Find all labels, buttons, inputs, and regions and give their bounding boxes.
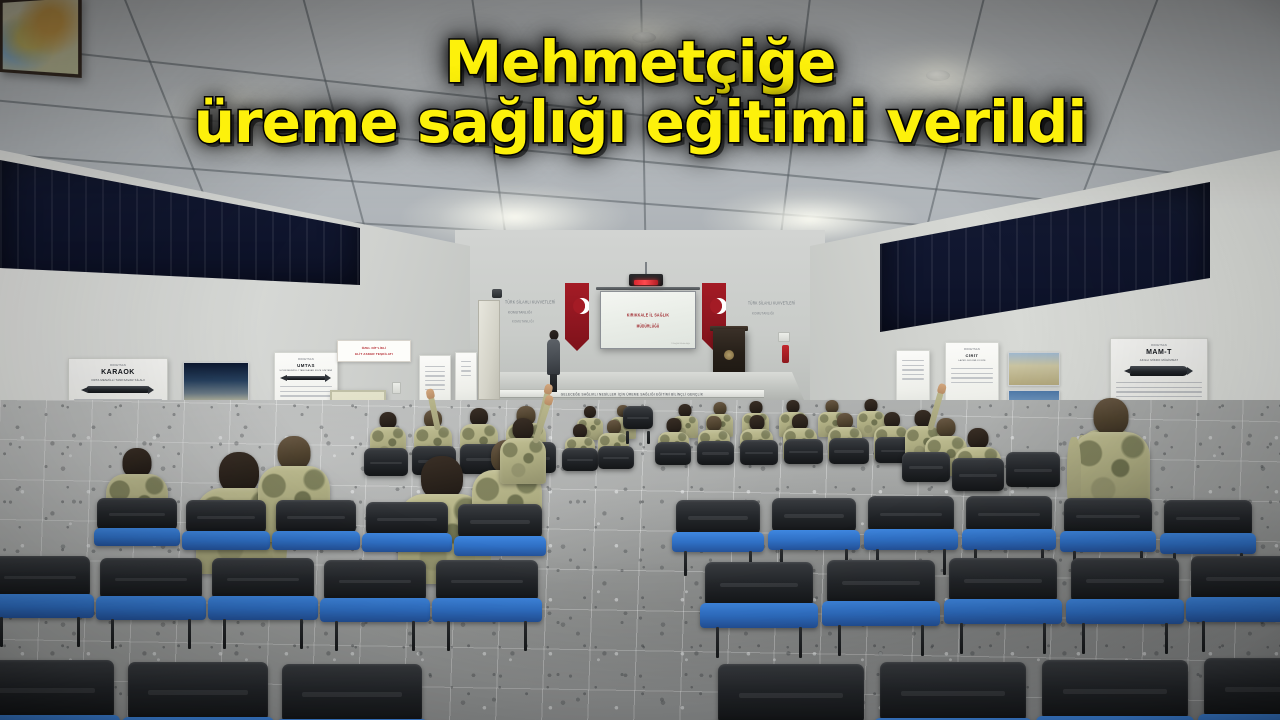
chair-backrest: [598, 446, 635, 469]
chair-backrest: [697, 441, 735, 465]
chair-block-b-5[interactable]: [1060, 498, 1156, 552]
chair-front-row-2[interactable]: [96, 558, 206, 620]
red-sign-line2: ELİT ASKER TEŞKİLATI: [355, 352, 393, 356]
red-sign-line1: ÖZEL NİT'LİKLİ: [362, 346, 387, 350]
chair-seat: [822, 601, 940, 626]
chair-right-3[interactable]: [1004, 452, 1062, 492]
chair-bottom-7[interactable]: [1198, 658, 1280, 720]
chair-legs: [443, 621, 531, 651]
chair-backrest: [1006, 452, 1059, 487]
chair-legs: [834, 625, 928, 657]
soldier-head: [707, 416, 722, 431]
chair-backrest: [282, 664, 422, 720]
soldier-head: [666, 418, 681, 433]
chair-r5-5[interactable]: [827, 438, 871, 467]
poster-brand: ROKETSAN: [1111, 344, 1207, 347]
chair-backrest: [100, 558, 201, 599]
chair-left-mid-2[interactable]: [596, 446, 636, 472]
chair-backrest: [458, 504, 543, 538]
chair-backrest: [1071, 558, 1180, 602]
soldier-front-left-raised: [500, 418, 546, 484]
chair-backrest: [827, 560, 936, 604]
chair-backrest: [366, 502, 449, 535]
wall-speaker: [492, 289, 502, 298]
chair-block-b-4[interactable]: [962, 496, 1056, 550]
soldier-front-right-big: [1072, 398, 1150, 514]
chair-seat: [944, 599, 1062, 624]
chair-legs: [107, 619, 195, 649]
chair-left-mid-1[interactable]: [560, 448, 600, 474]
poster-title: MAM-T: [1111, 349, 1207, 356]
chair-block-b-1[interactable]: [672, 500, 764, 552]
chair-backrest: [1191, 556, 1280, 600]
chair-legs: [1198, 621, 1280, 653]
chair-backrest: [324, 560, 425, 601]
poster-brand: ROKETSAN: [946, 348, 998, 351]
chair-backrest: [562, 448, 599, 471]
chair-front-row-1[interactable]: [0, 556, 94, 618]
chair-legs: [331, 621, 419, 651]
chair-front-row-right-2[interactable]: [822, 560, 940, 626]
chair-backrest: [880, 662, 1025, 720]
chair-r5-4[interactable]: [782, 439, 825, 467]
chair-backrest: [276, 500, 357, 533]
chair-aisle-empty[interactable]: [622, 406, 654, 432]
chair-backrest: [740, 440, 779, 465]
chair-backrest: [868, 496, 954, 532]
chair-block-a-2[interactable]: [182, 500, 270, 550]
podium-emblem-icon: [724, 350, 734, 360]
chair-bottom-2[interactable]: [122, 662, 274, 720]
chair-seat: [1198, 714, 1280, 720]
chair-bottom-4[interactable]: [712, 664, 870, 720]
crescent-star-icon: [706, 298, 722, 314]
photo-canvas: TÜRK SİLAHLI KUVVETLERİ KOMUTANLIĞI KOMU…: [0, 0, 1280, 720]
chair-legs: [712, 627, 806, 659]
chair-r5-1[interactable]: [653, 442, 693, 468]
chair-right-2[interactable]: [950, 458, 1006, 496]
soldier-head: [749, 415, 764, 430]
chair-legs: [219, 619, 307, 649]
chair-bottom-5[interactable]: [874, 662, 1032, 720]
poster-brand: ROKETSAN: [275, 358, 337, 361]
poster-spec-lines: [951, 368, 993, 383]
poster-title: UMTAS: [275, 363, 337, 368]
soldier-head: [278, 436, 311, 470]
chair-block-a-5[interactable]: [454, 504, 546, 556]
chair-block-a-1[interactable]: [94, 498, 180, 546]
right-wall-notice: [778, 332, 790, 342]
chair-seat: [864, 529, 958, 550]
back-wall-text-line3: KOMUTANLIĞI: [512, 318, 534, 323]
chair-backrest: [902, 452, 950, 482]
turkish-flag-banner-left: [565, 283, 589, 351]
chair-front-row-right-4[interactable]: [1066, 558, 1184, 624]
soldier-head: [968, 428, 989, 449]
chair-seat: [208, 596, 318, 620]
chair-backrest: [1042, 660, 1187, 719]
chair-backrest: [676, 500, 761, 534]
chair-seat: [672, 532, 764, 552]
chair-seat: [768, 530, 860, 550]
poster-spec-lines: [902, 360, 924, 380]
chair-front-row-right-3[interactable]: [944, 558, 1062, 624]
missile-illustration: [1130, 366, 1188, 376]
chair-front-row-right-1[interactable]: [700, 562, 818, 628]
poster-subtitle: ORTA MENZİLLİ TANKSAVAR SİLAHI: [69, 378, 167, 382]
back-wall-right-text-1: TÜRK SİLAHLI KUVVETLERİ: [748, 300, 795, 305]
chair-front-row-4[interactable]: [320, 560, 430, 622]
chair-seat: [122, 717, 274, 720]
chair-backrest: [718, 664, 863, 720]
poster-right-small-1: [896, 350, 930, 406]
chair-seat: [362, 533, 452, 552]
soldier-head: [573, 424, 587, 438]
chair-backrest: [784, 439, 824, 464]
soldier-head: [513, 418, 534, 440]
chair-backrest: [436, 560, 537, 601]
back-wall-right-text-2: KOMUTANLIĞI: [752, 310, 774, 315]
slide-title-line1: KIRIKKALE İL SAĞLIK: [627, 312, 669, 317]
chair-front-row-right-5[interactable]: [1186, 556, 1280, 622]
chair-seat: [1160, 533, 1256, 554]
chair-backrest: [186, 500, 267, 533]
chair-seat: [272, 531, 360, 550]
chair-block-a-4[interactable]: [362, 502, 452, 552]
chair-front-row-5[interactable]: [432, 560, 542, 622]
back-wall-text-line1: TÜRK SİLAHLI KUVVETLERİ: [505, 299, 556, 304]
missile-illustration: [87, 386, 149, 393]
back-wall-text-line2: KOMUTANLIĞI: [508, 309, 532, 314]
poster-left-small-2: [455, 352, 477, 404]
chair-legs: [1078, 623, 1172, 655]
poster-subtitle: UZUN MENZİLLİ TANKSAVAR FÜZE SİSTEMİ: [275, 370, 337, 372]
chair-r5-2[interactable]: [695, 441, 736, 468]
stage-banner-text: GELECEĞE SAĞLIKLI NESİLLER İÇİN ÜREME SA…: [561, 391, 703, 396]
soldier-head: [937, 418, 956, 437]
chair-r5-3[interactable]: [738, 440, 780, 468]
chair-backrest: [212, 558, 313, 599]
presenter-body: [547, 339, 560, 375]
slide-title-line2: MÜDÜRLÜĞÜ: [637, 323, 660, 328]
chair-seat: [320, 598, 430, 622]
chair-backrest: [966, 496, 1052, 532]
chair-backrest: [128, 662, 268, 720]
poster-title: KARAOK: [69, 369, 167, 376]
chair-seat: [1060, 531, 1156, 552]
chair-block-b-3[interactable]: [864, 496, 958, 550]
left-door[interactable]: [478, 300, 500, 400]
poster-subtitle: AKILLI MİKRO MÜHİMMAT: [1111, 358, 1207, 362]
chair-block-b-2[interactable]: [768, 498, 860, 550]
fire-extinguisher: [782, 345, 789, 363]
chair-backrest: [1064, 498, 1152, 534]
chair-backrest: [1204, 658, 1280, 717]
chair-backrest: [829, 438, 869, 464]
projection-screen: KIRIKKALE İL SAĞLIK MÜDÜRLÜĞÜ İl Sağlık …: [600, 291, 696, 349]
chair-backrest: [0, 660, 114, 718]
missile-illustration: [286, 376, 326, 380]
chair-backrest: [952, 458, 1004, 491]
wall-map-turkey: [0, 0, 82, 78]
chair-backrest: [97, 498, 176, 530]
chair-block-a-3[interactable]: [272, 500, 360, 550]
chair-seat: [96, 596, 206, 620]
chair-seat: [432, 598, 542, 622]
soldier-torso: [500, 438, 546, 484]
soldier-head: [584, 406, 596, 418]
chair-seat: [1036, 716, 1194, 720]
wall-switch-box: [392, 382, 401, 394]
map-surface: [3, 0, 78, 74]
chair-front-row-3[interactable]: [208, 558, 318, 620]
chair-bottom-3[interactable]: [276, 664, 428, 720]
chair-backrest: [772, 498, 857, 532]
chair-seat: [0, 594, 94, 618]
projector-indicator-led: [634, 280, 658, 285]
poster-spec-lines: [425, 366, 445, 390]
chair-backrest: [623, 406, 652, 429]
poster-subtitle: LAZER GÜDÜMLÜ FÜZE: [946, 360, 998, 362]
chair-seat: [1066, 599, 1184, 624]
chair-legs: [956, 623, 1050, 655]
chair-block-b-6[interactable]: [1160, 500, 1256, 554]
chair-backrest: [705, 562, 814, 606]
chair-right-1[interactable]: [900, 452, 952, 486]
chair-seat: [454, 536, 546, 556]
poster-brand: ROKETSAN: [69, 364, 167, 367]
poster-spec-lines: [461, 361, 471, 376]
chair-legs: [625, 431, 651, 443]
chair-backrest: [949, 558, 1058, 602]
chair-seat: [1186, 597, 1280, 622]
chair-backrest: [655, 442, 692, 465]
chair-legs: [0, 617, 83, 647]
left-wall-red-sign: ÖZEL NİT'LİKLİ ELİT ASKER TEŞKİLATI: [337, 340, 411, 362]
crescent-star-icon: [569, 298, 585, 314]
chair-backrest: [0, 556, 90, 597]
chair-seat: [0, 715, 120, 720]
slide-footnote: İl Sağlık Müdürlüğü: [671, 343, 690, 345]
presenter: [547, 330, 560, 392]
chair-bottom-6[interactable]: [1036, 660, 1194, 720]
chair-seat: [94, 528, 180, 546]
soldier-head: [1094, 398, 1129, 435]
stage-front-banner: GELECEĞE SAĞLIKLI NESİLLER İÇİN ÜREME SA…: [500, 389, 764, 398]
chair-seat: [962, 529, 1056, 550]
poster-photo-top-right: [1008, 352, 1060, 386]
chair-backrest: [1164, 500, 1252, 536]
chair-seat: [182, 531, 270, 550]
soldier-head: [607, 420, 621, 434]
poster-title: CİRİT: [946, 353, 998, 358]
projection-screen-rail: [596, 287, 700, 290]
chair-bottom-1[interactable]: [0, 660, 120, 720]
chair-seat: [700, 603, 818, 628]
